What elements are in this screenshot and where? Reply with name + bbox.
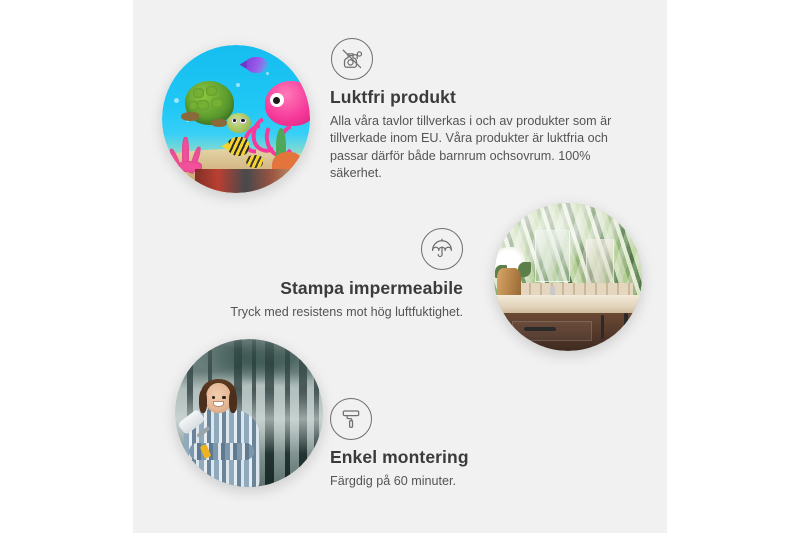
cabinet-handle — [624, 313, 628, 335]
drawer-handle — [524, 327, 557, 331]
bathroom-botanical-medallion — [494, 203, 642, 351]
feature-easy-mounting: Enkel montering Färgdig på 60 minuter. — [330, 398, 610, 490]
underwater-cartoon-image — [162, 45, 310, 193]
smile — [214, 402, 223, 406]
icon-row — [330, 38, 630, 80]
feature-title: Stampa impermeabile — [180, 278, 463, 299]
underwater-cartoon-medallion — [162, 45, 310, 193]
feature-title: Enkel montering — [330, 447, 610, 468]
cabinet-handle — [601, 315, 605, 339]
folded-arms — [189, 443, 254, 460]
turtle-flipper — [181, 112, 199, 121]
paint-roller-icon — [330, 398, 372, 440]
purple-fish-icon — [245, 57, 267, 73]
turtle-scute — [193, 88, 204, 97]
face — [206, 383, 231, 413]
hair — [199, 390, 207, 413]
icon-row — [180, 228, 463, 270]
bathroom-botanical-image — [494, 203, 642, 351]
turtle-eye — [231, 118, 238, 124]
woman-figure — [181, 383, 264, 487]
feature-body: Färgdig på 60 minuter. — [330, 473, 610, 490]
mirror — [586, 239, 615, 285]
octopus-eye — [270, 93, 284, 107]
feature-odour-free: Luktfri produkt Alla våra tavlor tillver… — [330, 38, 630, 183]
feature-water-resistant: Stampa impermeabile Tryck med resistens … — [180, 228, 463, 321]
mirror — [535, 230, 570, 282]
turtle-scute — [189, 101, 198, 109]
countertop — [494, 295, 642, 314]
turtle-eye — [239, 118, 246, 124]
turtle-flipper — [211, 119, 227, 127]
yellow-fish-icon — [246, 155, 262, 168]
feature-title: Luktfri produkt — [330, 87, 630, 108]
vanity-drawer — [512, 321, 592, 341]
turtle-icon — [180, 78, 248, 137]
scene-foreground-strip — [195, 169, 302, 193]
icon-row — [330, 398, 610, 440]
woman-paint-roller-forest-image — [175, 339, 323, 487]
yellow-fish-icon — [227, 137, 249, 156]
bubble-icon — [266, 72, 269, 75]
turtle-scute — [197, 100, 209, 110]
feature-body: Alla våra tavlor tillverkas i och av pro… — [330, 113, 630, 183]
umbrella-icon — [421, 228, 463, 270]
hair — [229, 390, 237, 413]
promo-infographic: Luktfri produkt Alla våra tavlor tillver… — [0, 0, 800, 533]
feature-body: Tryck med resistens mot hög luftfuktighe… — [180, 304, 463, 321]
turtle-scute — [211, 98, 223, 108]
no-odour-icon — [331, 38, 373, 80]
woman-paint-roller-forest-medallion — [175, 339, 323, 487]
turtle-scute — [206, 86, 218, 96]
